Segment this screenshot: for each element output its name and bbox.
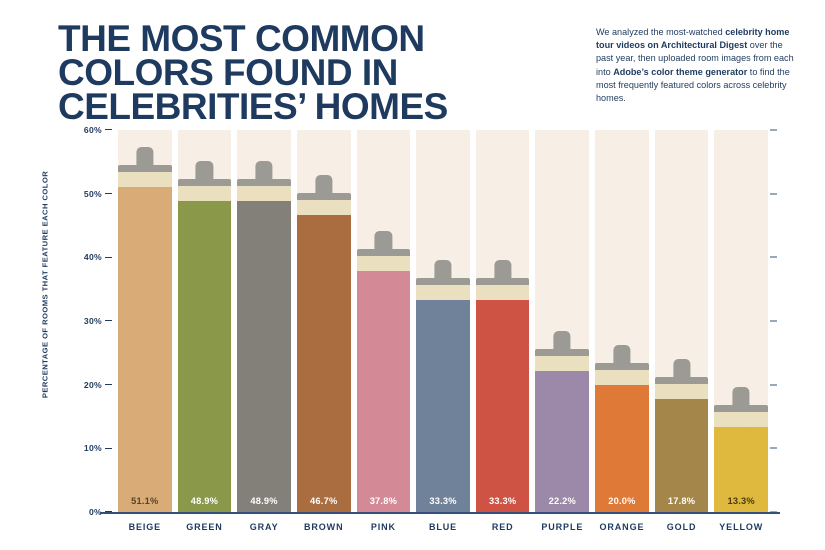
x-axis-label-beige: BEIGE xyxy=(118,518,172,544)
y-tick-label: 10% xyxy=(84,443,102,453)
paint-fill xyxy=(476,300,530,512)
brush-handle xyxy=(613,345,630,363)
y-tick-mark xyxy=(105,129,112,130)
bar-column-gray[interactable]: 48.9% xyxy=(237,130,291,512)
y-tick-mark xyxy=(105,257,112,258)
paint-bar[interactable]: 51.1% xyxy=(118,187,172,512)
brush-bristles xyxy=(416,285,470,300)
right-tick-mark xyxy=(770,130,777,131)
bar-value-label: 13.3% xyxy=(714,496,768,506)
brush-ferrule xyxy=(595,363,649,370)
brush-bristles xyxy=(655,384,709,399)
y-tick-30pct: 30% xyxy=(60,316,112,326)
brush-handle xyxy=(315,175,332,193)
x-axis-label-purple: PURPLE xyxy=(535,518,589,544)
brush-handle xyxy=(434,260,451,278)
right-tick-mark xyxy=(770,321,777,322)
paint-drip-edge xyxy=(535,370,589,379)
brush-handle xyxy=(136,147,153,165)
paint-fill xyxy=(655,399,709,512)
bar-chart: PERCENTAGE OF ROOMS THAT FEATURE EACH CO… xyxy=(0,130,825,550)
paint-drip-edge xyxy=(297,214,351,223)
bar-column-yellow[interactable]: 13.3% xyxy=(714,130,768,512)
brush-bristles xyxy=(297,200,351,215)
brush-ferrule xyxy=(714,405,768,412)
y-tick-label: 50% xyxy=(84,189,102,199)
paint-bar[interactable]: 20.0% xyxy=(595,385,649,512)
paint-drip-edge xyxy=(237,200,291,209)
x-axis-labels: BEIGEGREENGRAYBROWNPINKBLUEREDPURPLEORAN… xyxy=(118,518,768,544)
brush-bristles xyxy=(237,186,291,201)
paint-fill xyxy=(237,201,291,512)
brush-bristles xyxy=(476,285,530,300)
x-axis-label-pink: PINK xyxy=(357,518,411,544)
y-tick-10pct: 10% xyxy=(60,443,112,453)
brush-bristles xyxy=(535,356,589,371)
paint-fill xyxy=(178,201,232,512)
bar-column-gold[interactable]: 17.8% xyxy=(655,130,709,512)
y-tick-40pct: 40% xyxy=(60,252,112,262)
bar-value-label: 22.2% xyxy=(535,496,589,506)
deck-emphasis-tool: Adobe’s color theme generator xyxy=(613,67,747,77)
headline-line-1: THE MOST COMMON xyxy=(58,22,578,56)
brush-bristles xyxy=(357,256,411,271)
paint-fill xyxy=(297,215,351,512)
brush-ferrule xyxy=(655,377,709,384)
brush-handle xyxy=(256,161,273,179)
headline-line-2: COLORS FOUND IN xyxy=(58,56,578,90)
brush-handle xyxy=(375,231,392,249)
paint-bar[interactable]: 33.3% xyxy=(476,300,530,512)
x-axis-label-brown: BROWN xyxy=(297,518,351,544)
y-axis-title: PERCENTAGE OF ROOMS THAT FEATURE EACH CO… xyxy=(41,135,50,435)
x-axis-label-gray: GRAY xyxy=(237,518,291,544)
bar-column-purple[interactable]: 22.2% xyxy=(535,130,589,512)
page-title: THE MOST COMMONCOLORS FOUND INCELEBRITIE… xyxy=(58,22,578,124)
y-tick-mark xyxy=(105,320,112,321)
paint-drip-edge xyxy=(714,426,768,435)
y-tick-mark xyxy=(105,448,112,449)
bar-column-red[interactable]: 33.3% xyxy=(476,130,530,512)
brush-ferrule xyxy=(535,349,589,356)
paint-bar[interactable]: 46.7% xyxy=(297,215,351,512)
intro-description: We analyzed the most-watched celebrity h… xyxy=(596,26,796,105)
brush-ferrule xyxy=(476,278,530,285)
brush-handle xyxy=(673,359,690,377)
paint-bar[interactable]: 48.9% xyxy=(178,201,232,512)
y-tick-mark xyxy=(105,384,112,385)
bar-value-label: 51.1% xyxy=(118,496,172,506)
y-tick-label: 30% xyxy=(84,316,102,326)
paint-fill xyxy=(595,385,649,512)
paint-drip-edge xyxy=(416,299,470,308)
bar-value-label: 33.3% xyxy=(476,496,530,506)
brush-handle xyxy=(733,387,750,405)
right-tick-mark xyxy=(770,448,777,449)
y-tick-60pct: 60% xyxy=(60,125,112,135)
brush-handle xyxy=(554,331,571,349)
x-axis-label-gold: GOLD xyxy=(655,518,709,544)
brush-ferrule xyxy=(118,165,172,172)
x-axis-label-blue: BLUE xyxy=(416,518,470,544)
paint-bar[interactable]: 48.9% xyxy=(237,201,291,512)
bar-column-blue[interactable]: 33.3% xyxy=(416,130,470,512)
paint-drip-edge xyxy=(476,299,530,308)
brush-bristles xyxy=(595,370,649,385)
bar-value-label: 20.0% xyxy=(595,496,649,506)
x-axis-label-green: GREEN xyxy=(178,518,232,544)
brush-bristles xyxy=(118,172,172,187)
bar-column-green[interactable]: 48.9% xyxy=(178,130,232,512)
paint-bar[interactable]: 22.2% xyxy=(535,371,589,512)
bar-value-label: 17.8% xyxy=(655,496,709,506)
bar-column-beige[interactable]: 51.1% xyxy=(118,130,172,512)
y-tick-label: 20% xyxy=(84,380,102,390)
x-axis-label-orange: ORANGE xyxy=(595,518,649,544)
brush-ferrule xyxy=(237,179,291,186)
headline-line-3: CELEBRITIES’ HOMES xyxy=(58,90,578,124)
y-tick-mark xyxy=(105,193,112,194)
brush-handle xyxy=(196,161,213,179)
right-axis-ticks xyxy=(770,130,790,512)
bar-column-pink[interactable]: 37.8% xyxy=(357,130,411,512)
brush-ferrule xyxy=(357,249,411,256)
bar-value-label: 48.9% xyxy=(237,496,291,506)
bar-value-label: 37.8% xyxy=(357,496,411,506)
deck-text-1: We analyzed the most-watched xyxy=(596,27,725,37)
paint-fill xyxy=(357,271,411,512)
right-tick-mark xyxy=(770,384,777,385)
paint-drip-edge xyxy=(595,384,649,393)
paint-bar[interactable]: 13.3% xyxy=(714,427,768,512)
paint-drip-edge xyxy=(118,186,172,195)
paint-fill xyxy=(118,187,172,512)
y-tick-50pct: 50% xyxy=(60,189,112,199)
poster-header: THE MOST COMMONCOLORS FOUND INCELEBRITIE… xyxy=(0,0,825,130)
y-tick-20pct: 20% xyxy=(60,380,112,390)
y-tick-label: 60% xyxy=(84,125,102,135)
paint-drip-edge xyxy=(655,398,709,407)
brush-bristles xyxy=(714,412,768,427)
x-axis-label-red: RED xyxy=(476,518,530,544)
paint-fill xyxy=(416,300,470,512)
paint-bar[interactable]: 17.8% xyxy=(655,399,709,512)
bar-value-label: 48.9% xyxy=(178,496,232,506)
x-axis-label-yellow: YELLOW xyxy=(714,518,768,544)
bar-value-label: 46.7% xyxy=(297,496,351,506)
plot-area: 51.1%48.9%48.9%46.7%37.8%33.3%33.3%22.2%… xyxy=(118,130,768,512)
right-tick-mark xyxy=(770,193,777,194)
paint-drip-edge xyxy=(178,200,232,209)
brush-ferrule xyxy=(416,278,470,285)
brush-handle xyxy=(494,260,511,278)
brush-bristles xyxy=(178,186,232,201)
x-axis-line xyxy=(100,512,780,514)
paint-drip-edge xyxy=(357,270,411,279)
paint-bar[interactable]: 33.3% xyxy=(416,300,470,512)
right-tick-mark xyxy=(770,257,777,258)
paint-fill xyxy=(535,371,589,512)
brush-ferrule xyxy=(297,193,351,200)
brush-ferrule xyxy=(178,179,232,186)
y-axis-ticks: 0%10%20%30%40%50%60% xyxy=(60,130,112,512)
paint-bar[interactable]: 37.8% xyxy=(357,271,411,512)
bar-column-orange[interactable]: 20.0% xyxy=(595,130,649,512)
y-tick-label: 40% xyxy=(84,252,102,262)
infographic-poster: THE MOST COMMONCOLORS FOUND INCELEBRITIE… xyxy=(0,0,825,550)
bar-value-label: 33.3% xyxy=(416,496,470,506)
bar-column-brown[interactable]: 46.7% xyxy=(297,130,351,512)
